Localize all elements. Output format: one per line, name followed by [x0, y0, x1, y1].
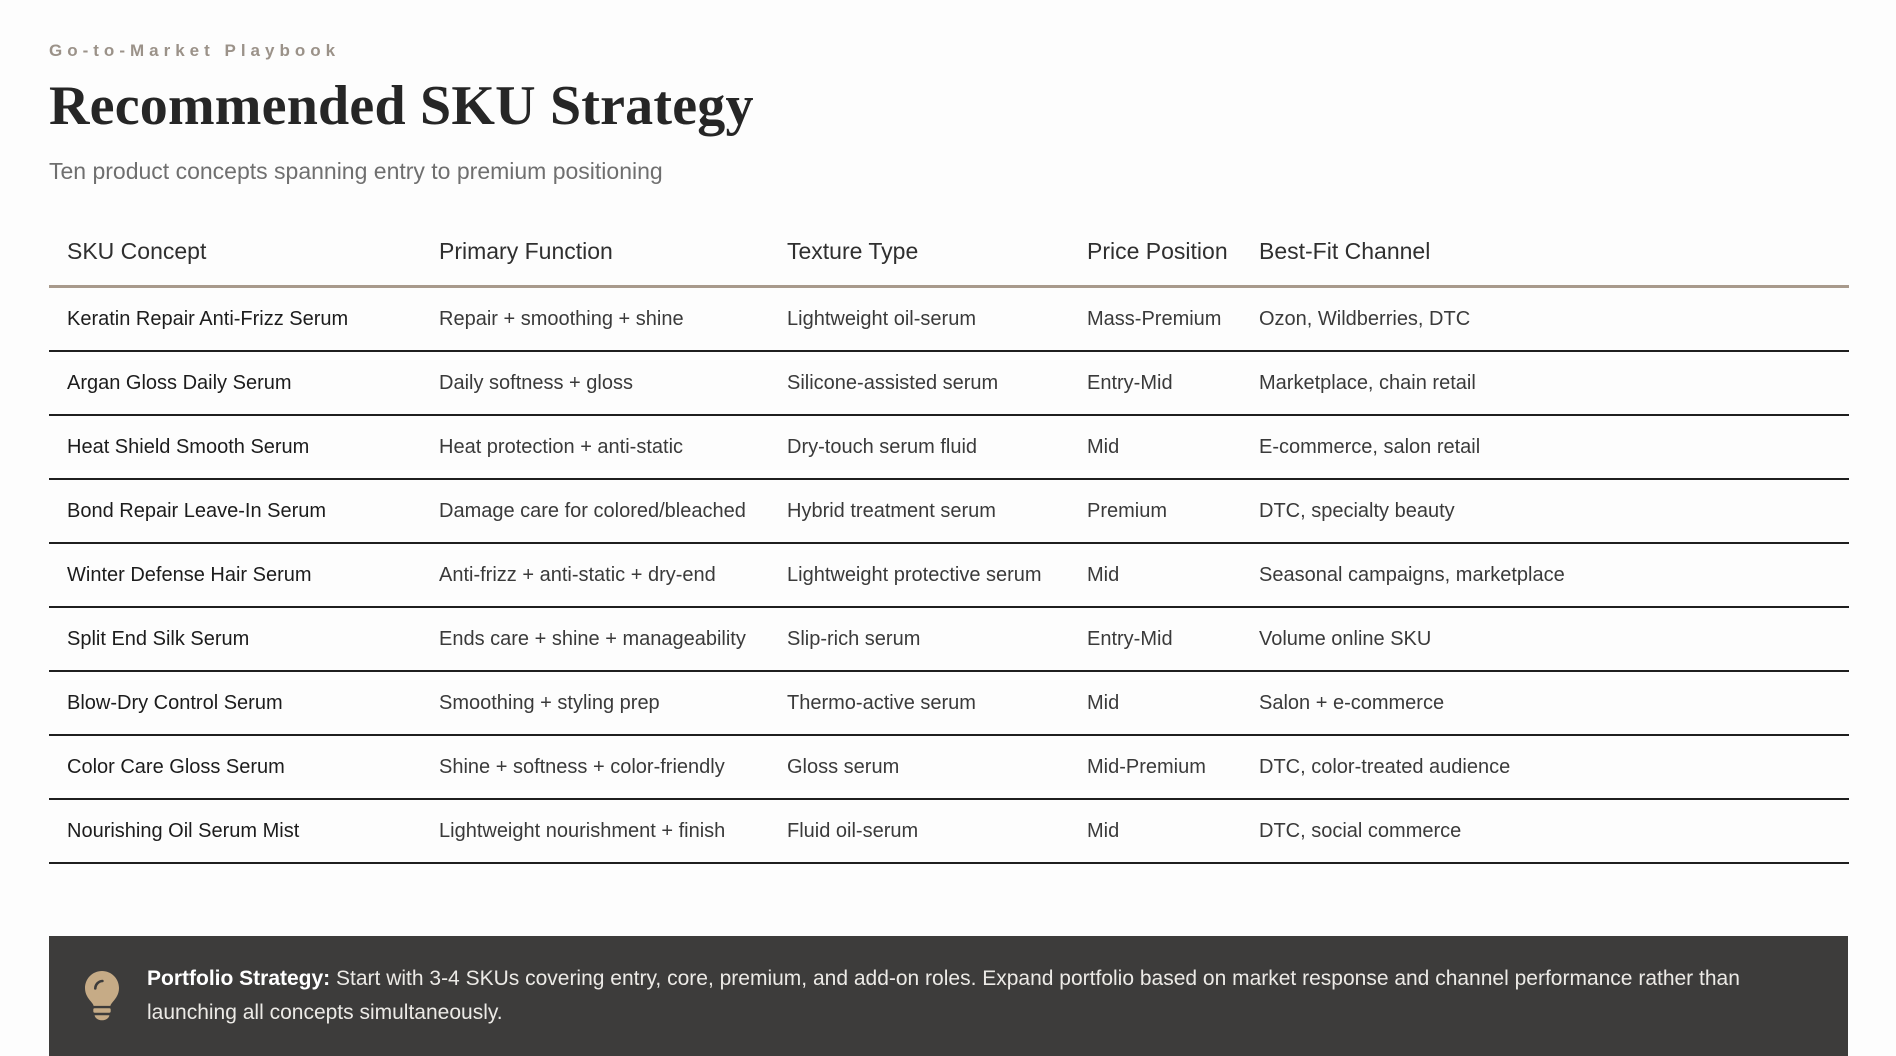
cell-price-position: Mid — [1069, 543, 1241, 607]
table-header-row: SKU Concept Primary Function Texture Typ… — [49, 238, 1849, 287]
callout-label: Portfolio Strategy: — [147, 967, 330, 990]
cell-texture-type: Fluid oil-serum — [769, 799, 1069, 863]
cell-best-fit-channel: E-commerce, salon retail — [1241, 415, 1849, 479]
cell-price-position: Entry-Mid — [1069, 607, 1241, 671]
cell-best-fit-channel: Seasonal campaigns, marketplace — [1241, 543, 1849, 607]
cell-texture-type: Thermo-active serum — [769, 671, 1069, 735]
table-row: Split End Silk Serum Ends care + shine +… — [49, 607, 1849, 671]
cell-best-fit-channel: DTC, color-treated audience — [1241, 735, 1849, 799]
cell-sku-concept: Blow-Dry Control Serum — [49, 671, 421, 735]
column-header-texture-type: Texture Type — [769, 238, 1069, 287]
cell-price-position: Mid — [1069, 799, 1241, 863]
cell-best-fit-channel: DTC, specialty beauty — [1241, 479, 1849, 543]
cell-sku-concept: Color Care Gloss Serum — [49, 735, 421, 799]
cell-best-fit-channel: DTC, social commerce — [1241, 799, 1849, 863]
cell-primary-function: Daily softness + gloss — [421, 351, 769, 415]
cell-texture-type: Lightweight protective serum — [769, 543, 1069, 607]
table-row: Keratin Repair Anti-Frizz Serum Repair +… — [49, 287, 1849, 352]
table-row: Blow-Dry Control Serum Smoothing + styli… — [49, 671, 1849, 735]
cell-sku-concept: Nourishing Oil Serum Mist — [49, 799, 421, 863]
page-subtitle: Ten product concepts spanning entry to p… — [49, 158, 1849, 186]
cell-price-position: Mid-Premium — [1069, 735, 1241, 799]
table-head: SKU Concept Primary Function Texture Typ… — [49, 238, 1849, 287]
cell-sku-concept: Argan Gloss Daily Serum — [49, 351, 421, 415]
cell-texture-type: Gloss serum — [769, 735, 1069, 799]
column-header-primary-function: Primary Function — [421, 238, 769, 287]
cell-price-position: Mass-Premium — [1069, 287, 1241, 352]
cell-price-position: Premium — [1069, 479, 1241, 543]
portfolio-strategy-callout: Portfolio Strategy: Start with 3-4 SKUs … — [49, 936, 1848, 1056]
column-header-best-fit-channel: Best-Fit Channel — [1241, 238, 1849, 287]
table-row: Nourishing Oil Serum Mist Lightweight no… — [49, 799, 1849, 863]
cell-texture-type: Silicone-assisted serum — [769, 351, 1069, 415]
cell-sku-concept: Split End Silk Serum — [49, 607, 421, 671]
cell-price-position: Entry-Mid — [1069, 351, 1241, 415]
column-header-sku-concept: SKU Concept — [49, 238, 421, 287]
cell-best-fit-channel: Volume online SKU — [1241, 607, 1849, 671]
cell-primary-function: Smoothing + styling prep — [421, 671, 769, 735]
cell-primary-function: Damage care for colored/bleached — [421, 479, 769, 543]
cell-sku-concept: Winter Defense Hair Serum — [49, 543, 421, 607]
cell-texture-type: Hybrid treatment serum — [769, 479, 1069, 543]
cell-texture-type: Lightweight oil-serum — [769, 287, 1069, 352]
cell-primary-function: Heat protection + anti-static — [421, 415, 769, 479]
table-row: Winter Defense Hair Serum Anti-frizz + a… — [49, 543, 1849, 607]
table-row: Argan Gloss Daily Serum Daily softness +… — [49, 351, 1849, 415]
page-title: Recommended SKU Strategy — [49, 77, 1849, 136]
cell-sku-concept: Keratin Repair Anti-Frizz Serum — [49, 287, 421, 352]
cell-best-fit-channel: Salon + e-commerce — [1241, 671, 1849, 735]
sku-table-wrapper: SKU Concept Primary Function Texture Typ… — [49, 238, 1849, 864]
cell-texture-type: Dry-touch serum fluid — [769, 415, 1069, 479]
column-header-price-position: Price Position — [1069, 238, 1241, 287]
cell-price-position: Mid — [1069, 671, 1241, 735]
table-row: Heat Shield Smooth Serum Heat protection… — [49, 415, 1849, 479]
cell-texture-type: Slip-rich serum — [769, 607, 1069, 671]
cell-primary-function: Anti-frizz + anti-static + dry-end — [421, 543, 769, 607]
cell-primary-function: Lightweight nourishment + finish — [421, 799, 769, 863]
lightbulb-icon — [79, 967, 125, 1023]
cell-sku-concept: Bond Repair Leave-In Serum — [49, 479, 421, 543]
cell-best-fit-channel: Marketplace, chain retail — [1241, 351, 1849, 415]
callout-text: Portfolio Strategy: Start with 3-4 SKUs … — [147, 962, 1797, 1030]
cell-best-fit-channel: Ozon, Wildberries, DTC — [1241, 287, 1849, 352]
slide-page: Go-to-Market Playbook Recommended SKU St… — [0, 0, 1896, 1056]
cell-primary-function: Ends care + shine + manageability — [421, 607, 769, 671]
callout-body: Start with 3-4 SKUs covering entry, core… — [147, 967, 1740, 1024]
cell-primary-function: Shine + softness + color-friendly — [421, 735, 769, 799]
table-row: Color Care Gloss Serum Shine + softness … — [49, 735, 1849, 799]
table-body: Keratin Repair Anti-Frizz Serum Repair +… — [49, 287, 1849, 864]
table-row: Bond Repair Leave-In Serum Damage care f… — [49, 479, 1849, 543]
sku-table: SKU Concept Primary Function Texture Typ… — [49, 238, 1849, 864]
cell-primary-function: Repair + smoothing + shine — [421, 287, 769, 352]
cell-price-position: Mid — [1069, 415, 1241, 479]
cell-sku-concept: Heat Shield Smooth Serum — [49, 415, 421, 479]
eyebrow-label: Go-to-Market Playbook — [49, 42, 1849, 59]
page-header: Go-to-Market Playbook Recommended SKU St… — [49, 42, 1849, 185]
